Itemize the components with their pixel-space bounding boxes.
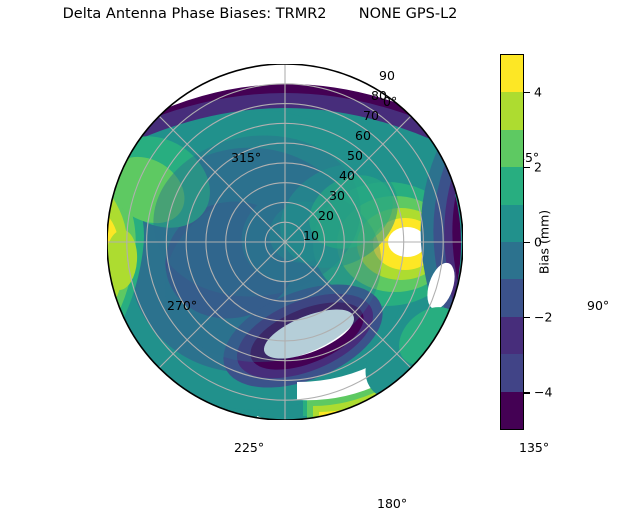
colorbar-tick-mark-4 <box>524 392 530 393</box>
colorbar-band-8 <box>501 354 523 391</box>
colorbar-band-6 <box>501 279 523 316</box>
colorbar-band-7 <box>501 317 523 354</box>
colorbar-band-9 <box>501 392 523 429</box>
colorbar-band-0 <box>501 55 523 92</box>
r-tick-50: 50 <box>347 148 363 163</box>
colorbar-tick-mark-1 <box>524 167 530 168</box>
r-tick-90: 90 <box>379 68 395 83</box>
colorbar-band-4 <box>501 205 523 242</box>
theta-tick-135: 135° <box>519 440 549 455</box>
colorbar-band-1 <box>501 92 523 129</box>
figure-canvas: Delta Antenna Phase Biases: TRMR2 NONE G… <box>0 0 640 480</box>
colorbar-label: Bias (mm) <box>537 210 552 274</box>
r-tick-70: 70 <box>363 108 379 123</box>
theta-tick-180: 180° <box>377 496 407 511</box>
polar-contour-surface <box>107 64 463 420</box>
theta-tick-225: 225° <box>234 440 264 455</box>
colorbar-tick-label-3: −2 <box>534 310 552 325</box>
colorbar-gradient <box>500 54 524 430</box>
theta-tick-315: 315° <box>231 150 261 165</box>
colorbar-band-2 <box>501 130 523 167</box>
r-tick-10: 10 <box>303 228 319 243</box>
theta-tick-270: 270° <box>167 298 197 313</box>
colorbar[interactable]: 420−2−4 <box>500 54 524 430</box>
r-tick-80: 80 <box>371 88 387 103</box>
r-tick-20: 20 <box>318 208 334 223</box>
polar-grid <box>107 64 463 420</box>
colorbar-ticks: 420−2−4 <box>524 54 594 430</box>
colorbar-tick-mark-0 <box>524 92 530 93</box>
r-tick-40: 40 <box>339 168 355 183</box>
r-tick-60: 60 <box>355 128 371 143</box>
colorbar-tick-label-4: −4 <box>534 385 552 400</box>
colorbar-tick-label-0: 4 <box>534 84 542 99</box>
colorbar-band-3 <box>501 167 523 204</box>
colorbar-tick-mark-3 <box>524 317 530 318</box>
colorbar-tick-label-1: 2 <box>534 159 542 174</box>
colorbar-tick-mark-2 <box>524 242 530 243</box>
colorbar-band-5 <box>501 242 523 279</box>
page-title: Delta Antenna Phase Biases: TRMR2 NONE G… <box>0 6 520 22</box>
polar-plot[interactable]: 0° 45° 90° 135° 180° 225° 270° 315° 10 2… <box>107 64 463 420</box>
r-tick-30: 30 <box>329 188 345 203</box>
